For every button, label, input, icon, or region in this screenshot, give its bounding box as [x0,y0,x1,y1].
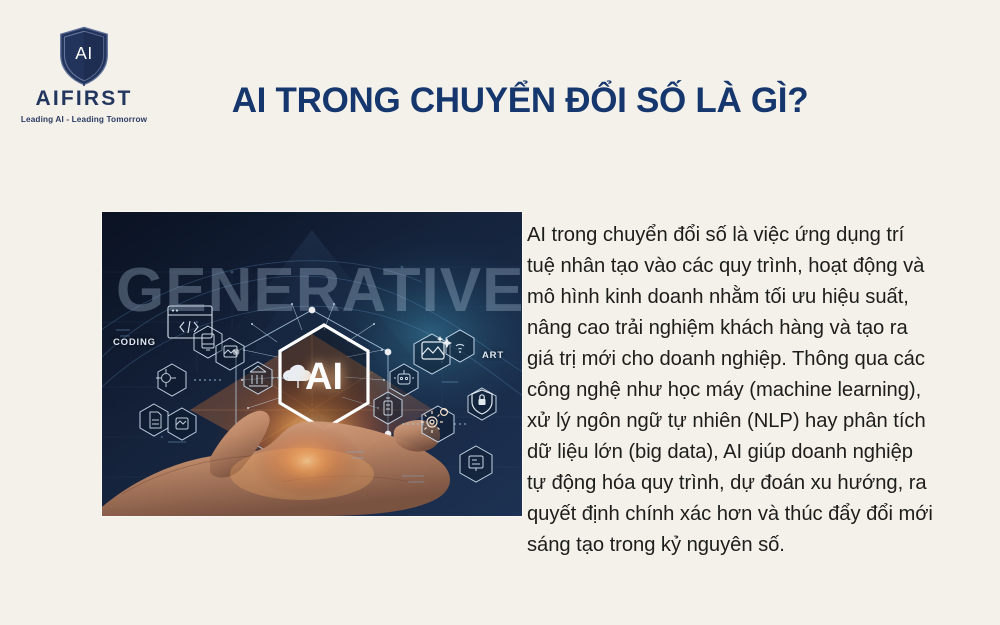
slide-root: AI AIFIRST Leading AI - Leading Tomorrow… [0,0,1000,625]
shield-ai-icon: AI [56,26,112,86]
content-area: GENERATIVE CODING ART AI AI trong chuyển… [0,196,1000,516]
brand-logo[interactable]: AI AIFIRST Leading AI - Leading Tomorrow [18,26,150,124]
hero-image: GENERATIVE CODING ART AI [102,212,522,516]
logo-tagline: Leading AI - Leading Tomorrow [18,116,150,124]
page-title: AI TRONG CHUYỂN ĐỔI SỐ LÀ GÌ? [170,81,870,121]
body-paragraph: AI trong chuyển đổi số là việc ứng dụng … [527,220,937,561]
logo-wordmark: AIFIRST [18,88,150,109]
svg-text:AI: AI [75,43,92,63]
figure-artwork [102,212,522,516]
